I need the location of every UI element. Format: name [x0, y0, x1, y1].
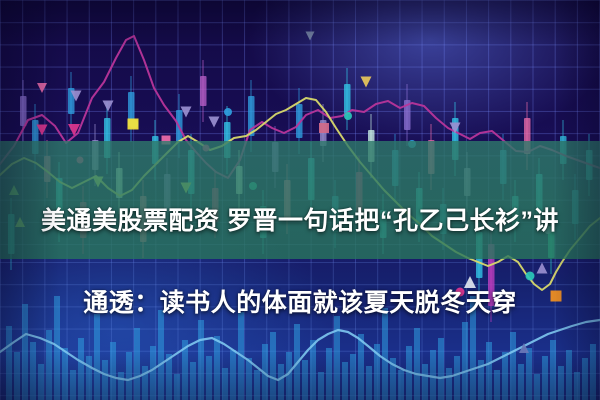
triangle-down-marker-icon — [306, 32, 315, 41]
candle-body — [344, 84, 351, 114]
candle-body — [20, 96, 27, 126]
triangle-down-marker-icon — [103, 101, 114, 112]
stock-chart-banner: 美通美股票配资 罗晋一句话把“孔乙己长衫”讲 通透：读书人的体面就该夏天脱冬天穿 — [0, 0, 600, 400]
volume-bar — [318, 372, 324, 400]
volume-bar — [422, 364, 428, 400]
page-title: 美通美股票配资 罗晋一句话把“孔乙己长衫”讲 通透：读书人的体面就该夏天脱冬天穿 — [0, 160, 600, 365]
volume-bar — [254, 370, 260, 400]
page-title-line-1: 美通美股票配资 罗晋一句话把“孔乙己长衫”讲 — [0, 201, 600, 242]
volume-bar — [574, 372, 580, 400]
volume-bar — [38, 364, 44, 400]
volume-bar — [518, 364, 524, 400]
volume-bar — [190, 362, 196, 400]
candle-body — [200, 76, 207, 106]
volume-bar — [70, 370, 76, 400]
volume-bar — [142, 366, 148, 400]
volume-bar — [342, 362, 348, 400]
volume-bar — [398, 370, 404, 400]
page-title-line-2: 通透：读书人的体面就该夏天脱冬天穿 — [0, 283, 600, 324]
volume-bar — [302, 360, 308, 400]
circle-marker-icon — [344, 112, 352, 120]
triangle-down-marker-icon — [37, 83, 47, 93]
circle-marker-icon — [224, 108, 232, 116]
square-marker-icon — [128, 119, 139, 130]
volume-bar — [222, 368, 228, 400]
triangle-down-marker-icon — [209, 117, 220, 128]
volume-bar — [102, 360, 108, 400]
triangle-down-marker-icon — [361, 77, 372, 88]
square-marker-icon — [319, 123, 329, 133]
volume-bar — [494, 370, 500, 400]
volume-bar — [534, 374, 540, 400]
volume-bar — [558, 366, 564, 400]
volume-bar — [366, 366, 372, 400]
volume-bar — [278, 364, 284, 400]
volume-bar — [118, 372, 124, 400]
volume-bar — [174, 374, 180, 400]
triangle-down-marker-icon — [450, 123, 461, 134]
volume-bar — [446, 368, 452, 400]
